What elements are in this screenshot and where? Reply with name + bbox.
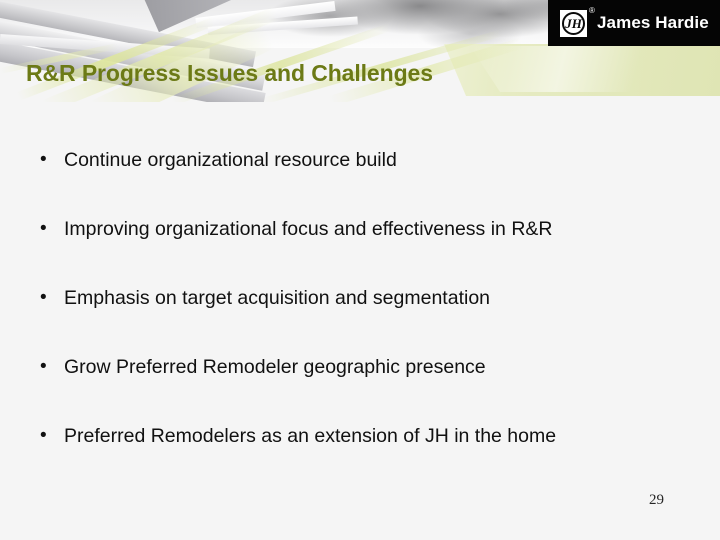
list-item-label: Continue organizational resource build [64,148,397,172]
trademark-icon: ® [589,7,595,15]
list-item-label: Grow Preferred Remodeler geographic pres… [64,355,486,379]
list-item-label: Emphasis on target acquisition and segme… [64,286,490,310]
list-item: • Emphasis on target acquisition and seg… [0,286,720,355]
list-item: • Improving organizational focus and eff… [0,217,720,286]
bullet-list: • Continue organizational resource build… [0,148,720,493]
bullet-marker-icon: • [40,148,64,172]
bullet-marker-icon: • [40,217,64,241]
list-item: • Continue organizational resource build [0,148,720,217]
bullet-marker-icon: • [40,286,64,310]
bullet-marker-icon: • [40,424,64,448]
presentation-slide: R&R Progress Issues and Challenges JH ® … [0,0,720,540]
logo-wordmark: James Hardie [597,13,709,33]
page-number: 29 [649,492,664,509]
list-item-label: Improving organizational focus and effec… [64,217,553,241]
list-item-label: Preferred Remodelers as an extension of … [64,424,556,448]
page-title: R&R Progress Issues and Challenges [26,60,433,87]
jh-monogram-icon: JH [560,10,587,37]
james-hardie-logo: JH ® James Hardie [548,0,720,46]
bullet-marker-icon: • [40,355,64,379]
jh-monogram-letters: JH [560,10,587,37]
list-item: • Grow Preferred Remodeler geographic pr… [0,355,720,424]
list-item: • Preferred Remodelers as an extension o… [0,424,720,493]
